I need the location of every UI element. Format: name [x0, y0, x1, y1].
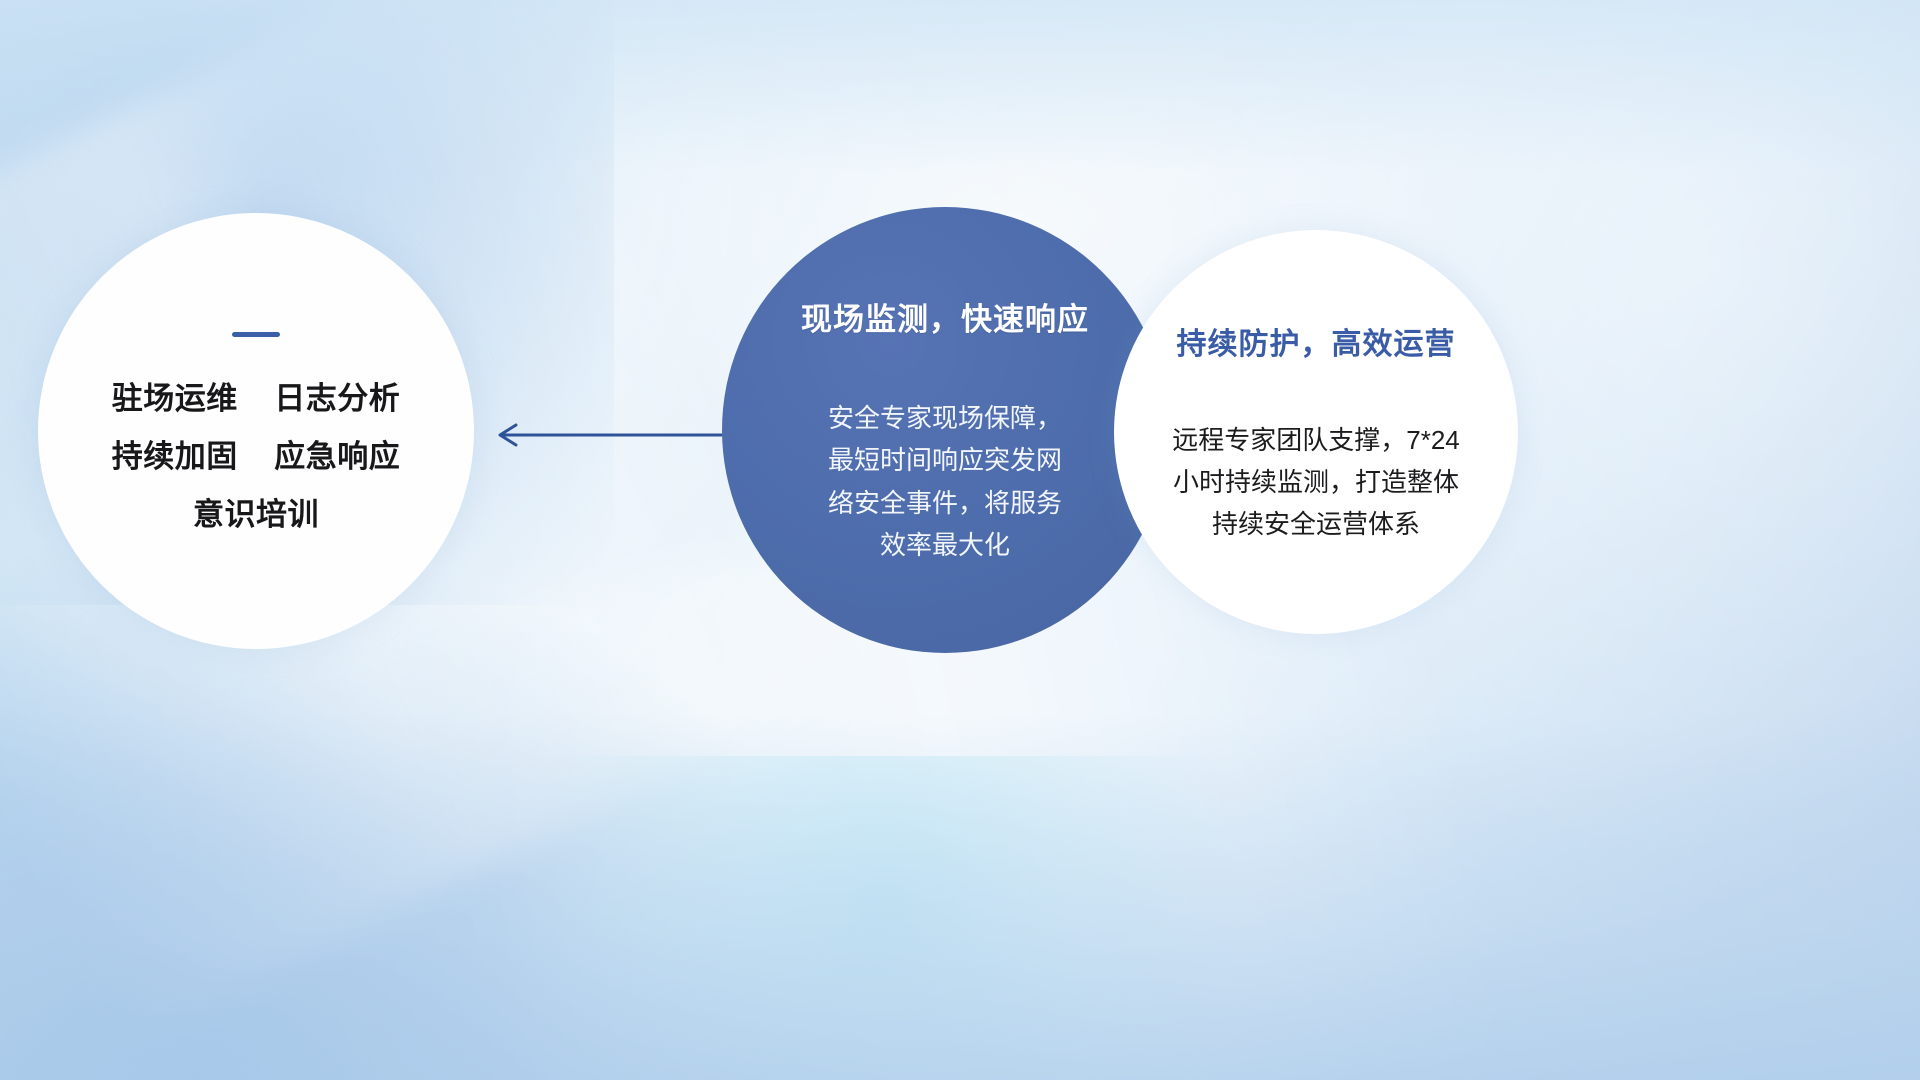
- protection-body-line-3: 持续安全运营体系: [1140, 503, 1492, 545]
- onsite-body-line-3: 络安全事件，将服务: [802, 482, 1088, 524]
- flow-arrow-icon: [480, 418, 740, 452]
- protection-body-line-2: 小时持续监测，打造整体: [1140, 461, 1492, 503]
- divider-dash: [232, 332, 280, 337]
- onsite-body-line-2: 最短时间响应突发网: [802, 439, 1088, 481]
- capability-line-1: 驻场运维 日志分析: [112, 383, 400, 414]
- continuous-protection-title: 持续防护，高效运营: [1177, 319, 1456, 363]
- onsite-monitoring-title: 现场监测，快速响应: [801, 294, 1089, 339]
- protection-body-line-1: 远程专家团队支撑，7*24: [1140, 419, 1492, 461]
- capability-line-3: 意识培训: [193, 499, 319, 530]
- diagram-stage: 驻场运维 日志分析 持续加固 应急响应 意识培训 现场监测，快速响应 安全专家现…: [0, 0, 1920, 1080]
- onsite-body-line-1: 安全专家现场保障，: [802, 397, 1088, 439]
- continuous-protection-body: 远程专家团队支撑，7*24 小时持续监测，打造整体 持续安全运营体系: [1140, 419, 1492, 545]
- capability-line-2: 持续加固 应急响应: [112, 441, 400, 472]
- continuous-protection-circle[interactable]: 持续防护，高效运营 远程专家团队支撑，7*24 小时持续监测，打造整体 持续安全…: [1114, 230, 1518, 634]
- capability-circle-left[interactable]: 驻场运维 日志分析 持续加固 应急响应 意识培训: [38, 213, 474, 649]
- onsite-monitoring-circle[interactable]: 现场监测，快速响应 安全专家现场保障， 最短时间响应突发网 络安全事件，将服务 …: [722, 207, 1168, 653]
- onsite-body-line-4: 效率最大化: [802, 524, 1088, 566]
- onsite-monitoring-body: 安全专家现场保障， 最短时间响应突发网 络安全事件，将服务 效率最大化: [802, 397, 1088, 565]
